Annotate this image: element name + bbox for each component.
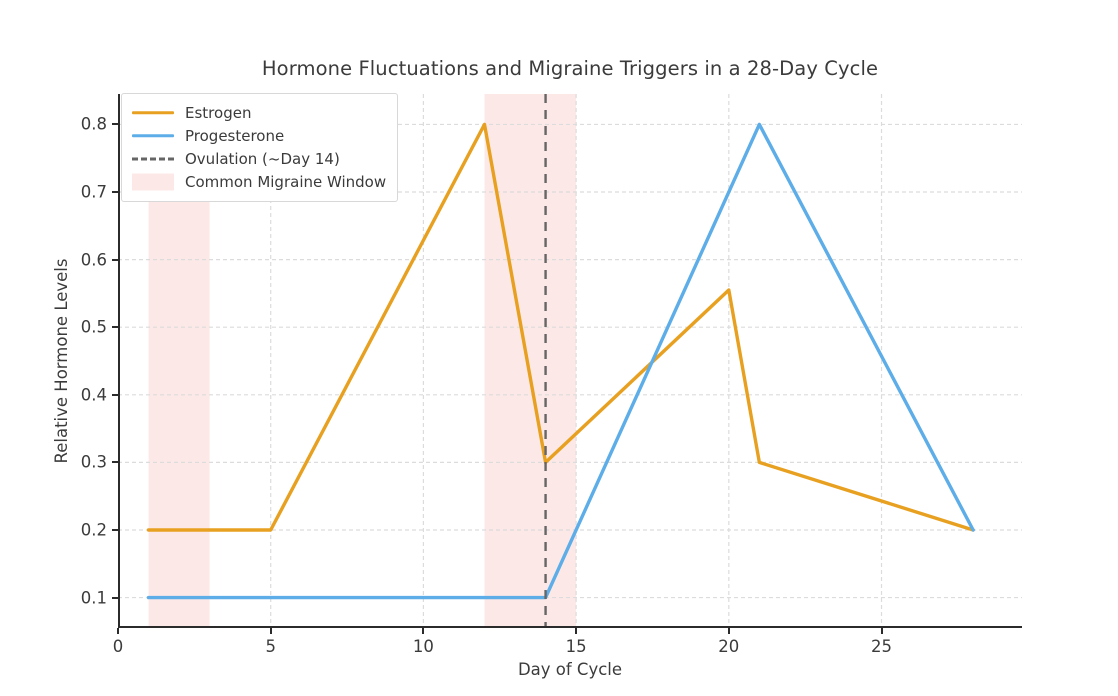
y-tick-mark <box>112 259 118 261</box>
y-tick-mark <box>112 191 118 193</box>
legend-item[interactable]: Ovulation (~Day 14) <box>132 147 386 170</box>
legend-key-glyph <box>132 111 174 114</box>
x-tick-mark <box>117 628 119 634</box>
plot-area: 0.10.20.30.40.50.60.70.8 0510152025 Estr… <box>118 94 1022 628</box>
y-tick-mark <box>112 394 118 396</box>
legend-key-icon <box>132 106 174 120</box>
legend-item-label: Progesterone <box>185 127 284 145</box>
legend-key-glyph <box>132 157 174 160</box>
y-tick-label: 0.2 <box>81 520 107 539</box>
migraine-window-span <box>484 94 576 628</box>
x-tick-mark <box>422 628 424 634</box>
legend-key-icon <box>132 129 174 143</box>
x-tick-label: 0 <box>113 637 124 656</box>
y-tick-mark <box>112 123 118 125</box>
legend-item-label: Ovulation (~Day 14) <box>185 150 340 168</box>
x-tick-label: 10 <box>413 637 434 656</box>
x-tick-mark <box>881 628 883 634</box>
y-tick-mark <box>112 326 118 328</box>
legend-item[interactable]: Progesterone <box>132 124 386 147</box>
legend-key-glyph <box>132 134 174 137</box>
y-axis-label: Relative Hormone Levels <box>52 94 71 628</box>
legend-key-glyph <box>132 173 174 190</box>
legend-item[interactable]: Common Migraine Window <box>132 170 386 193</box>
y-tick-mark <box>112 529 118 531</box>
chart-title: Hormone Fluctuations and Migraine Trigge… <box>118 57 1022 80</box>
y-tick-label: 0.6 <box>81 250 107 269</box>
x-axis-spine <box>118 626 1022 628</box>
y-tick-label: 0.5 <box>81 318 107 337</box>
x-tick-mark <box>575 628 577 634</box>
x-tick-mark <box>728 628 730 634</box>
x-tick-label: 20 <box>718 637 739 656</box>
legend-item-label: Common Migraine Window <box>185 173 386 191</box>
x-tick-label: 15 <box>566 637 587 656</box>
figure: Hormone Fluctuations and Migraine Trigge… <box>0 0 1118 696</box>
y-tick-label: 0.3 <box>81 453 107 472</box>
chart-legend[interactable]: EstrogenProgesteroneOvulation (~Day 14)C… <box>121 93 398 202</box>
x-tick-label: 25 <box>871 637 892 656</box>
x-axis-label: Day of Cycle <box>118 660 1022 679</box>
legend-key-icon <box>132 175 174 189</box>
legend-key-icon <box>132 152 174 166</box>
y-tick-label: 0.1 <box>81 588 107 607</box>
legend-item-label: Estrogen <box>185 104 251 122</box>
y-tick-mark <box>112 597 118 599</box>
y-tick-mark <box>112 461 118 463</box>
y-tick-label: 0.8 <box>81 115 107 134</box>
y-axis-spine <box>118 94 120 628</box>
legend-item[interactable]: Estrogen <box>132 101 386 124</box>
x-tick-mark <box>270 628 272 634</box>
y-tick-label: 0.4 <box>81 385 107 404</box>
x-tick-label: 5 <box>265 637 276 656</box>
y-tick-label: 0.7 <box>81 183 107 202</box>
